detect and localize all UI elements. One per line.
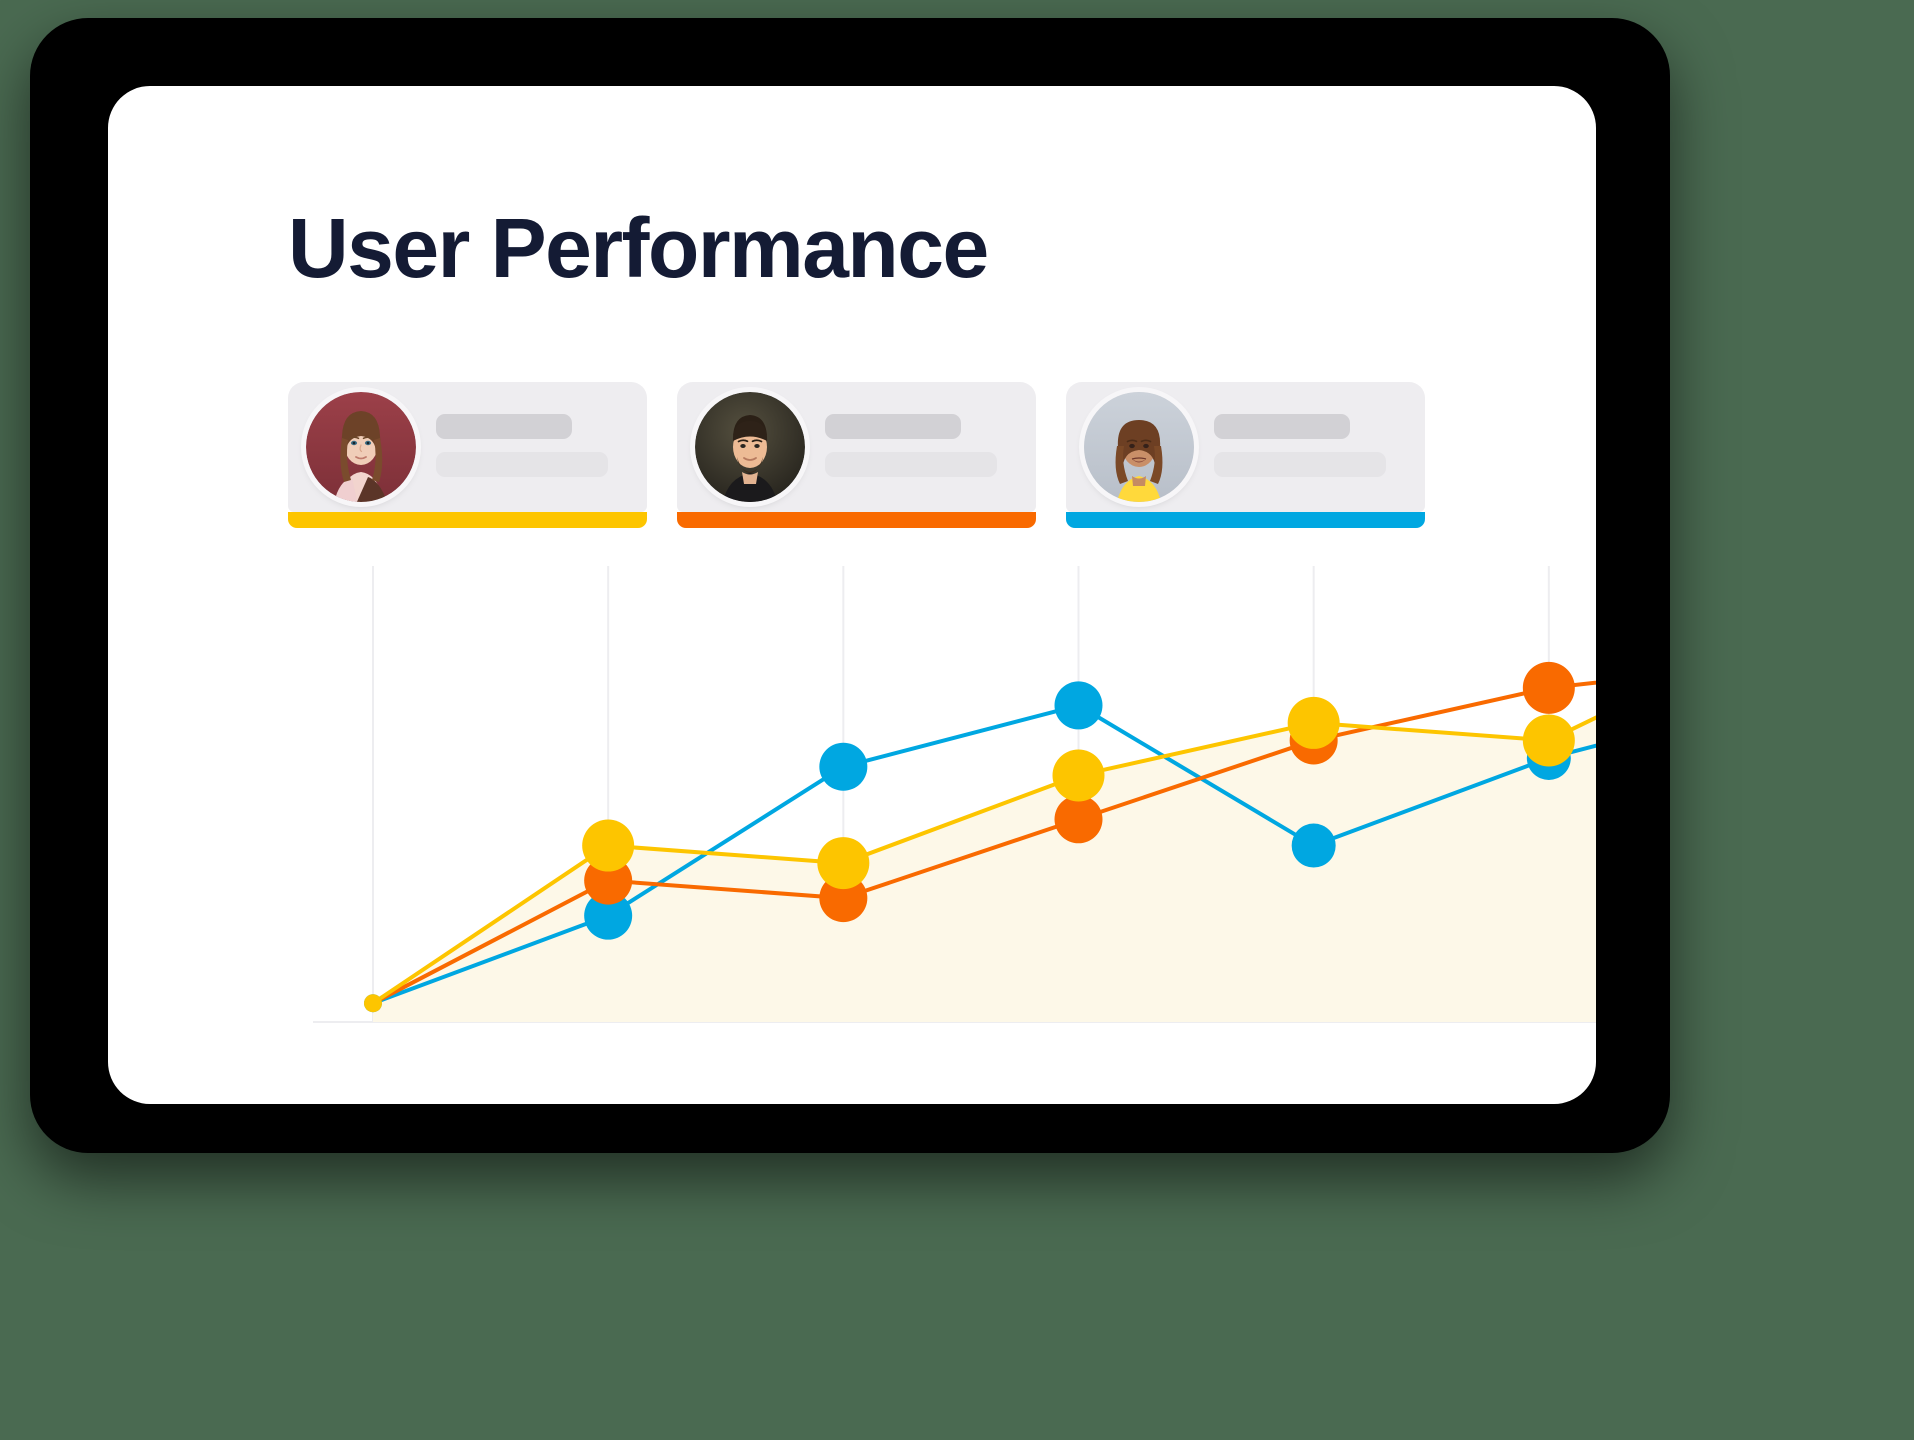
user-card-body bbox=[288, 382, 647, 512]
area-fill-path bbox=[373, 627, 1596, 1022]
data-point[interactable] bbox=[1523, 714, 1575, 766]
data-point[interactable] bbox=[1055, 795, 1103, 843]
user-card-text-placeholders bbox=[825, 414, 1014, 477]
placeholder-bar-primary bbox=[1214, 414, 1350, 439]
user-card-2[interactable] bbox=[677, 382, 1036, 542]
data-point[interactable] bbox=[819, 743, 867, 791]
user-card-3[interactable] bbox=[1066, 382, 1425, 542]
chart-canvas[interactable] bbox=[108, 556, 1596, 1076]
avatar-man-dark-background[interactable] bbox=[695, 392, 805, 502]
placeholder-bar-primary bbox=[825, 414, 961, 439]
user-card-list bbox=[288, 382, 1425, 542]
user-card-accent-bar bbox=[288, 512, 647, 528]
data-point[interactable] bbox=[364, 994, 382, 1012]
placeholder-bar-secondary bbox=[1214, 452, 1386, 477]
page-title: User Performance bbox=[288, 206, 988, 290]
data-point[interactable] bbox=[1292, 824, 1336, 868]
avatar-woman-auburn-hair[interactable] bbox=[306, 392, 416, 502]
user-card-1[interactable] bbox=[288, 382, 647, 542]
user-card-body bbox=[677, 382, 1036, 512]
placeholder-bar-primary bbox=[436, 414, 572, 439]
data-point[interactable] bbox=[1053, 749, 1105, 801]
data-point[interactable] bbox=[1055, 681, 1103, 729]
chart-area-fill bbox=[373, 627, 1596, 1022]
user-card-accent-bar bbox=[677, 512, 1036, 528]
avatar-woman-yellow-top[interactable] bbox=[1084, 392, 1194, 502]
device-frame: User Performance bbox=[30, 18, 1670, 1153]
avatar-image-2 bbox=[695, 392, 805, 502]
data-point[interactable] bbox=[817, 837, 869, 889]
placeholder-bar-secondary bbox=[825, 452, 997, 477]
avatar-image-1 bbox=[306, 392, 416, 502]
data-point[interactable] bbox=[582, 820, 634, 872]
performance-line-chart[interactable] bbox=[108, 556, 1596, 1076]
app-panel: User Performance bbox=[108, 86, 1596, 1104]
user-card-text-placeholders bbox=[436, 414, 625, 477]
data-point[interactable] bbox=[1523, 662, 1575, 714]
placeholder-bar-secondary bbox=[436, 452, 608, 477]
avatar-image-3 bbox=[1084, 392, 1194, 502]
user-card-text-placeholders bbox=[1214, 414, 1403, 477]
user-card-body bbox=[1066, 382, 1425, 512]
data-point[interactable] bbox=[1288, 697, 1340, 749]
user-card-accent-bar bbox=[1066, 512, 1425, 528]
